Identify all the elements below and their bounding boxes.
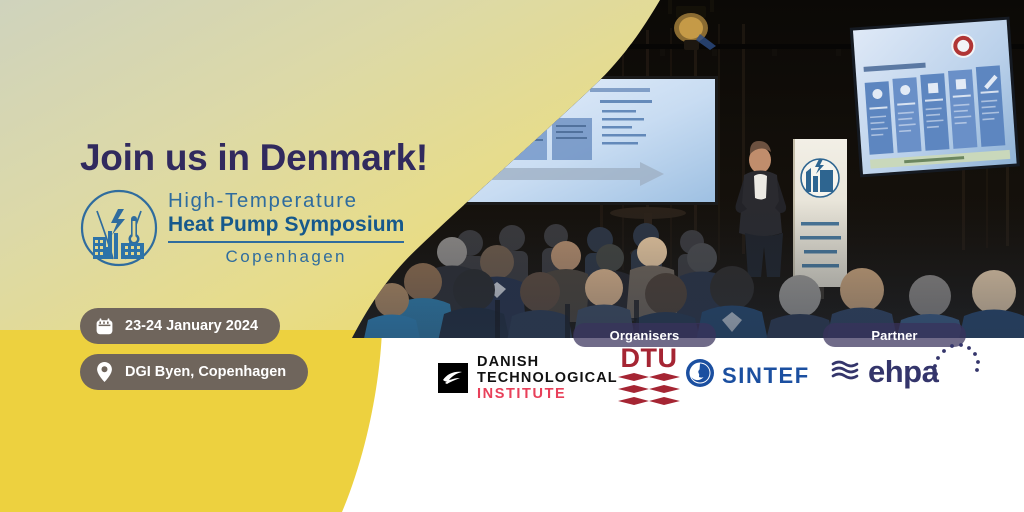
dti-line-3: INSTITUTE	[477, 386, 618, 402]
event-venue-label: DGI Byen, Copenhagen	[125, 364, 286, 380]
sponsor-logo-danish-technological-institute: DANISH TECHNOLOGICAL INSTITUTE	[438, 354, 618, 403]
globe-swirl-icon	[685, 358, 715, 393]
arrow-badge-icon	[438, 363, 468, 393]
dtu-wordmark: DTU	[621, 346, 678, 372]
brand-line-1: High-Temperature	[168, 191, 404, 212]
ehpa-wordmark: ehpa	[868, 354, 938, 390]
sponsor-logo-ehpa: ehpa	[830, 352, 980, 391]
dti-line-2: TECHNOLOGICAL	[477, 370, 618, 386]
sintef-wordmark: SINTEF	[722, 363, 810, 389]
page-title: Join us in Denmark!	[80, 137, 428, 179]
event-date-pill: 23-24 January 2024	[80, 308, 280, 344]
calendar-icon	[95, 317, 114, 336]
brand-divider	[168, 241, 404, 243]
factory-thermometer-bolt-circle-icon	[80, 189, 158, 267]
sponsor-logo-row: DANISH TECHNOLOGICAL INSTITUTE DTU	[340, 340, 1024, 430]
eu-stars-arc-icon	[932, 340, 980, 387]
sponsor-logo-sintef: SINTEF	[685, 358, 810, 393]
dti-line-1: DANISH	[477, 354, 618, 370]
event-logo-lockup: High-Temperature Heat Pump Symposium Cop…	[80, 189, 404, 267]
event-date-label: 23-24 January 2024	[125, 318, 258, 334]
sponsor-logo-dtu: DTU	[618, 346, 680, 413]
waves-and-eu-stars-icon	[830, 352, 864, 391]
brand-line-3: Copenhagen	[168, 248, 404, 265]
event-venue-pill: DGI Byen, Copenhagen	[80, 354, 308, 390]
promo-banner: Join us in Denmark!	[0, 0, 1024, 512]
three-diamond-bars-icon	[618, 372, 680, 413]
brand-line-2: Heat Pump Symposium	[168, 214, 404, 235]
location-pin-icon	[95, 361, 114, 383]
